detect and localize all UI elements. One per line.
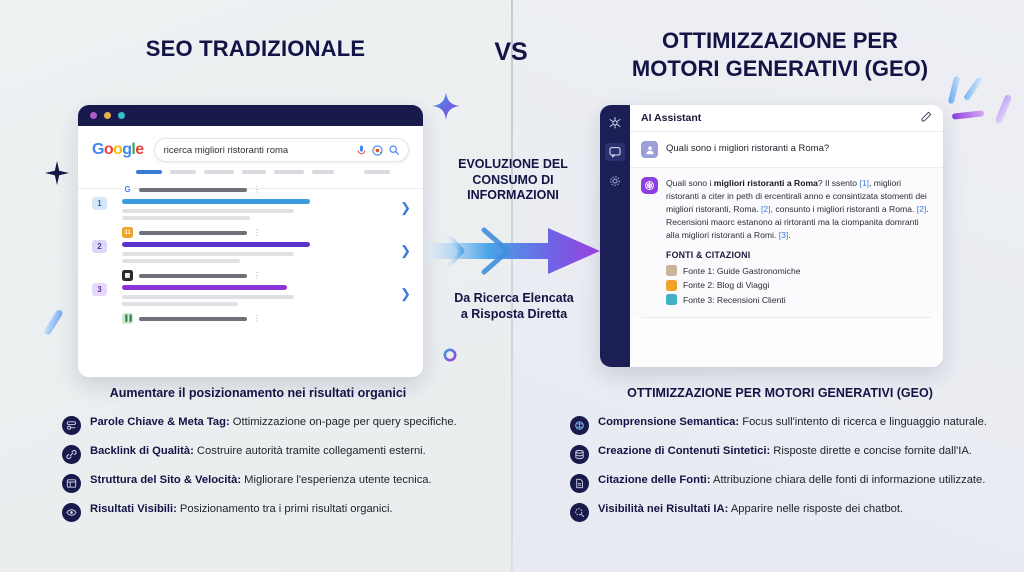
rank-badge: 2 (92, 240, 107, 253)
gear-icon[interactable] (605, 172, 625, 190)
search-result-row-partial[interactable]: ▐▐ ⋮ (122, 313, 409, 324)
search-result-row[interactable]: 2 11 ⋮ ❯ (122, 227, 409, 263)
search-result-row[interactable]: 1 G ⋮ ❯ (122, 184, 409, 220)
citation-ref[interactable]: [1] (859, 178, 869, 188)
page-title-right-line2: MOTORI GENERATIVI (GEO) (632, 56, 928, 81)
ai-user-message: Quali sono i migliori ristoranti a Roma? (630, 132, 943, 168)
ai-response-text: Quali sono i migliori ristoranti a Roma?… (666, 177, 932, 242)
vs-label: VS (478, 38, 544, 67)
list-item-text: Parole Chiave & Meta Tag: Ottimizzazione… (90, 415, 457, 430)
list-item-bold: Citazione delle Fonti: (598, 474, 711, 486)
result-title-bar (122, 242, 310, 247)
list-item-rest: Focus sull'intento di ricerca e linguagg… (739, 416, 987, 428)
chevron-right-icon[interactable]: ❯ (400, 243, 411, 259)
evolution-arrow (428, 222, 600, 280)
list-item-rest: Risposte dirette e concise fornite dall'… (770, 445, 972, 457)
citation-ref[interactable]: [3] (779, 230, 789, 240)
ai-title: AI Assistant (641, 112, 701, 124)
list-item: Parole Chiave & Meta Tag: Ottimizzazione… (62, 415, 502, 435)
eye-icon (62, 503, 81, 522)
avatar (641, 141, 658, 158)
result-snippet-line (122, 302, 238, 306)
ai-sources-block: FONTI & CITAZIONI Fonte 1: Guide Gastron… (630, 248, 943, 317)
middle-title: EVOLUZIONE DEL CONSUMO DI INFORMAZIONI (430, 157, 596, 204)
keyword-icon (62, 416, 81, 435)
ai-user-message-text: Quali sono i migliori ristoranti a Roma? (666, 141, 829, 154)
result-snippet-line (122, 216, 250, 220)
search-ai-icon (570, 503, 589, 522)
left-feature-list: Parole Chiave & Meta Tag: Ottimizzazione… (62, 415, 502, 531)
result-header: ▦ ⋮ (122, 270, 409, 281)
list-item-bold: Comprensione Semantica: (598, 416, 739, 428)
search-icon[interactable] (389, 145, 399, 155)
logo-letter-6: e (135, 141, 143, 158)
database-icon (570, 445, 589, 464)
list-item: Visibilità nei Risultati IA: Apparire ne… (570, 502, 1010, 522)
list-item-bold: Backlink di Qualità: (90, 445, 194, 457)
list-item: Risultati Visibili: Posizionamento tra i… (62, 502, 502, 522)
ai-assistant-mockup: AI Assistant Quali sono i migliori risto… (600, 105, 943, 367)
list-item-rest: Apparire nelle risposte dei chatbot. (728, 503, 903, 515)
list-item-bold: Creazione di Contenuti Sintetici: (598, 445, 770, 457)
list-item-rest: Posizionamento tra i primi risultati org… (177, 503, 393, 515)
chevron-right-icon[interactable]: ❯ (400, 200, 411, 216)
link-icon (62, 445, 81, 464)
browser-titlebar (78, 105, 423, 126)
left-subtitle: Aumentare il posizionamento nei risultat… (48, 386, 468, 400)
middle-subtitle: Da Ricerca Elencata a Risposta Diretta (424, 290, 604, 323)
list-item-text: Visibilità nei Risultati IA: Apparire ne… (598, 502, 903, 517)
ai-conversation-panel: AI Assistant Quali sono i migliori risto… (630, 105, 943, 367)
chevron-right-icon[interactable]: ❯ (400, 286, 411, 302)
resp-bold-1: migliori ristoranti a Roma (714, 178, 818, 188)
list-item-text: Risultati Visibili: Posizionamento tra i… (90, 502, 393, 517)
result-domain-bar (139, 317, 247, 321)
brain-icon (570, 416, 589, 435)
result-menu-icon[interactable]: ⋮ (253, 187, 261, 193)
result-snippet-line (122, 209, 294, 213)
browser-viewport: Google ricerca migliori ristoranti roma (78, 126, 423, 377)
thumbs-up-icon (666, 294, 677, 305)
middle-title-line3: INFORMAZIONI (467, 188, 559, 202)
result-domain-bar (139, 274, 247, 278)
list-item-text: Backlink di Qualità: Costruire autorità … (90, 444, 426, 459)
logo-letter-1: G (92, 141, 104, 158)
page-title-right: OTTIMIZZAZIONE PER MOTORI GENERATIVI (GE… (545, 27, 1015, 83)
list-item-rest: Migliorare l'esperienza utente tecnica. (241, 474, 432, 486)
result-header: G ⋮ (122, 184, 409, 195)
source-label: Fonte 3: Recensioni Clienti (683, 295, 786, 305)
result-title-bar (122, 199, 310, 204)
ai-response-message: Quali sono i migliori ristoranti a Roma?… (630, 168, 943, 248)
result-header: ▐▐ ⋮ (122, 313, 409, 324)
resp-seg-4: , consunto i migliori ristoranti a Roma. (771, 204, 917, 214)
result-snippet-line (122, 259, 240, 263)
source-item[interactable]: Fonte 1: Guide Gastronomiche (666, 265, 932, 276)
citation-ref[interactable]: [2] (917, 204, 927, 214)
middle-subtitle-line1: Da Ricerca Elencata (454, 291, 574, 305)
right-subtitle: OTTIMIZZAZIONE PER MOTORI GENERATIVI (GE… (560, 386, 1000, 400)
panel-divider (511, 0, 513, 572)
lens-icon[interactable] (372, 145, 383, 156)
list-item-bold: Struttura del Sito & Velocità: (90, 474, 241, 486)
list-item-rest: Costruire autorità tramite collegamenti … (194, 445, 426, 457)
sparkle-icon[interactable] (605, 114, 625, 132)
microphone-icon[interactable] (357, 145, 366, 156)
rank-badge: 3 (92, 283, 107, 296)
search-header: Google ricerca migliori ristoranti roma (78, 126, 423, 168)
window-close-dot[interactable] (90, 112, 97, 119)
ai-header: AI Assistant (630, 105, 943, 132)
result-snippet-line (122, 295, 294, 299)
source-label: Fonte 2: Blog di Viaggi (683, 280, 769, 290)
document-icon (570, 474, 589, 493)
search-query-text: ricerca migliori ristoranti roma (164, 145, 351, 156)
result-domain-bar (139, 231, 247, 235)
list-item: Backlink di Qualità: Costruire autorità … (62, 444, 502, 464)
openai-logo-icon (641, 177, 658, 194)
pencil-icon (666, 280, 677, 291)
favicon-dark-icon: ▦ (122, 270, 133, 281)
logo-letter-3: o (113, 141, 122, 158)
ai-footer-divider (641, 317, 932, 327)
list-item: Creazione di Contenuti Sintetici: Rispos… (570, 444, 1010, 464)
layout-icon (62, 474, 81, 493)
list-item-rest: Attribuzione chiara delle fonti di infor… (711, 474, 986, 486)
browser-mockup: Google ricerca migliori ristoranti roma (78, 105, 423, 377)
search-results: 1 G ⋮ ❯ 2 11 ⋮ (78, 174, 423, 324)
right-feature-list: Comprensione Semantica: Focus sull'inten… (570, 415, 1010, 531)
list-item-bold: Visibilità nei Risultati IA: (598, 503, 728, 515)
middle-subtitle-line2: a Risposta Diretta (461, 307, 567, 321)
favicon-tripadvisor-icon: 11 (122, 227, 133, 238)
favicon-chart-icon: ▐▐ (122, 313, 133, 324)
resp-seg-6: . (788, 230, 790, 240)
source-item[interactable]: Fonte 3: Recensioni Clienti (666, 294, 932, 305)
result-menu-icon[interactable]: ⋮ (253, 316, 261, 322)
citation-ref[interactable]: [2] (761, 204, 771, 214)
list-item-text: Comprensione Semantica: Focus sull'inten… (598, 415, 987, 430)
list-item-text: Creazione di Contenuti Sintetici: Rispos… (598, 444, 972, 459)
source-label: Fonte 1: Guide Gastronomiche (683, 266, 801, 276)
list-item-bold: Risultati Visibili: (90, 503, 177, 515)
compose-icon[interactable] (921, 109, 932, 127)
page-title-left: SEO TRADIZIONALE (0, 36, 511, 62)
result-title-bar (122, 285, 287, 290)
list-item: Comprensione Semantica: Focus sull'inten… (570, 415, 1010, 435)
list-item-text: Citazione delle Fonti: Attribuzione chia… (598, 473, 985, 488)
page-title-right-line1: OTTIMIZZAZIONE PER (662, 28, 898, 53)
middle-title-line2: CONSUMO DI (472, 173, 553, 187)
list-item-text: Struttura del Sito & Velocità: Migliorar… (90, 473, 432, 488)
list-item-rest: Ottimizzazione on-page per query specifi… (230, 416, 457, 428)
google-logo: Google (92, 141, 144, 159)
window-maximize-dot[interactable] (118, 112, 125, 119)
list-item-bold: Parole Chiave & Meta Tag: (90, 416, 230, 428)
rank-badge: 1 (92, 197, 107, 210)
list-item: Struttura del Sito & Velocità: Migliorar… (62, 473, 502, 493)
ai-sidebar (600, 105, 630, 367)
resp-seg-2: ? Il ssento (818, 178, 860, 188)
result-snippet-line (122, 252, 294, 256)
window-minimize-dot[interactable] (104, 112, 111, 119)
source-item[interactable]: Fonte 2: Blog di Viaggi (666, 280, 932, 291)
search-result-row[interactable]: 3 ▦ ⋮ ❯ (122, 270, 409, 306)
list-item: Citazione delle Fonti: Attribuzione chia… (570, 473, 1010, 493)
logo-letter-2: o (104, 141, 113, 158)
resp-seg-1: Quali sono i (666, 178, 714, 188)
search-input[interactable]: ricerca migliori ristoranti roma (154, 138, 409, 162)
sources-header: FONTI & CITAZIONI (666, 250, 932, 260)
favicon-google-icon: G (122, 184, 133, 195)
result-domain-bar (139, 188, 247, 192)
chat-icon[interactable] (605, 143, 625, 161)
result-menu-icon[interactable]: ⋮ (253, 273, 261, 279)
result-menu-icon[interactable]: ⋮ (253, 230, 261, 236)
book-icon (666, 265, 677, 276)
middle-title-line1: EVOLUZIONE DEL (458, 157, 568, 171)
result-header: 11 ⋮ (122, 227, 409, 238)
